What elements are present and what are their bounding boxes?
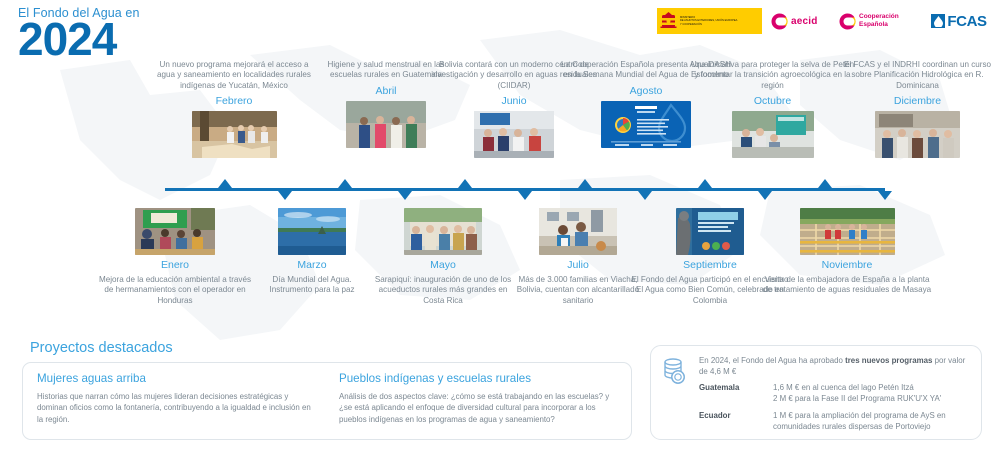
- project-card-pueblos-indigenas[interactable]: Pueblos indígenas y escuelas rurales Aná…: [339, 372, 617, 430]
- event-photo-escuela-rural-guatemala[interactable]: [346, 101, 426, 148]
- ministerio-line3: Y COOPERACIÓN: [680, 23, 737, 26]
- funding-country: Guatemala: [699, 382, 773, 405]
- coins-stack-icon: [661, 355, 691, 431]
- timeline-marker-junio: [518, 191, 532, 200]
- timeline-marker-julio: [578, 179, 592, 188]
- timeline-event-febrero[interactable]: Un nuevo programa mejorará el acceso a a…: [150, 60, 318, 158]
- timeline-marker-febrero: [278, 191, 292, 200]
- aecid-logo: aecid: [768, 8, 830, 34]
- timeline-event-noviembre[interactable]: Noviembre Visita de la embajadora de Esp…: [762, 208, 932, 296]
- funding-row-guatemala: Guatemala 1,6 M € en al cuenca del lago …: [699, 382, 971, 405]
- section-title-proyectos-destacados: Proyectos destacados: [30, 340, 173, 356]
- timeline-event-mayo[interactable]: Mayo Sarapiquí: inauguración de uno de l…: [368, 208, 518, 306]
- event-photo-comunidad-rural-yucatan[interactable]: [192, 111, 277, 158]
- event-month: Octubre: [690, 95, 855, 107]
- event-photo-curso-planificacion-hidrologica[interactable]: [875, 111, 960, 158]
- project-card-title: Mujeres aguas arriba: [37, 372, 315, 385]
- event-photo-cartel-agua-bien-comun[interactable]: [676, 208, 744, 255]
- project-card-mujeres-aguas-arriba[interactable]: Mujeres aguas arriba Historias que narra…: [37, 372, 315, 430]
- funding-values: 1 M € para la ampliación del programa de…: [773, 410, 971, 433]
- timeline-marker-abril: [398, 191, 412, 200]
- cooperacion-line1: Cooperación: [859, 13, 899, 21]
- funding-value-line: 1,6 M € en al cuenca del lago Petén Itzá: [773, 382, 971, 393]
- funding-country: Ecuador: [699, 410, 773, 433]
- event-month: Enero: [95, 259, 255, 271]
- timeline-marker-mayo: [458, 179, 472, 188]
- funding-value-line: 2 M € para la Fase II del Programa RUK'U…: [773, 393, 971, 404]
- event-description: Día Mundial del Agua. Instrumento para l…: [252, 275, 372, 296]
- aecid-c-mark-icon: [771, 13, 788, 30]
- project-card-body: Análisis de dos aspectos clave: ¿cómo se…: [339, 391, 617, 425]
- logo-strip: MINISTERIO DE ASUNTOS EXTERIORES, UNIÓN …: [657, 8, 992, 34]
- event-month: Mayo: [368, 259, 518, 271]
- timeline-marker-octubre: [758, 191, 772, 200]
- timeline-marker-septiembre: [698, 179, 712, 188]
- funding-values: 1,6 M € en al cuenca del lago Petén Itzá…: [773, 382, 971, 405]
- event-description: Mejora de la educación ambiental a travé…: [95, 275, 255, 306]
- event-description: Una iniciativa para proteger la selva de…: [690, 60, 855, 91]
- timeline-marker-enero: [218, 179, 232, 188]
- event-description: Más de 3.000 familias en Viacha, Bolivia…: [508, 275, 648, 306]
- funding-summary-box: En 2024, el Fondo del Agua ha aprobado t…: [650, 345, 982, 440]
- event-month: Julio: [508, 259, 648, 271]
- funding-lead-text: En 2024, el Fondo del Agua ha aprobado t…: [699, 355, 971, 377]
- timeline-axis: [165, 188, 885, 191]
- aecid-wordmark: aecid: [791, 16, 818, 27]
- event-description: Visita de la embajadora de España a la p…: [762, 275, 932, 296]
- timeline-event-diciembre[interactable]: El FCAS y el INDRHI coordinan un curso s…: [840, 60, 995, 158]
- funding-lead-bold: tres nuevos programas: [845, 356, 932, 365]
- event-description: El FCAS y el INDRHI coordinan un curso s…: [840, 60, 995, 91]
- timeline-event-julio[interactable]: Julio Más de 3.000 familias en Viacha, B…: [508, 208, 648, 306]
- event-photo-familias-viacha-bolivia[interactable]: [539, 208, 617, 255]
- funding-row-ecuador: Ecuador 1 M € para la ampliación del pro…: [699, 410, 971, 433]
- event-photo-cartel-aquadash-estocolmo[interactable]: [601, 101, 691, 148]
- event-photo-evento-peten-guatemala[interactable]: [732, 111, 814, 158]
- spain-coat-of-arms-icon: [660, 11, 677, 31]
- event-month: Diciembre: [840, 95, 995, 107]
- projects-card-group: Mujeres aguas arriba Historias que narra…: [22, 362, 632, 440]
- event-month: Marzo: [252, 259, 372, 271]
- timeline-marker-marzo: [338, 179, 352, 188]
- event-description: Un nuevo programa mejorará el acceso a a…: [150, 60, 318, 91]
- timeline-marker-noviembre: [818, 179, 832, 188]
- project-card-title: Pueblos indígenas y escuelas rurales: [339, 372, 617, 385]
- timeline-marker-agosto: [638, 191, 652, 200]
- event-month: Noviembre: [762, 259, 932, 271]
- cooperacion-espanola-logo: Cooperación Española: [836, 8, 920, 34]
- timeline-event-enero[interactable]: Enero Mejora de la educación ambiental a…: [95, 208, 255, 306]
- timeline-event-marzo[interactable]: Marzo Día Mundial del Agua. Instrumento …: [252, 208, 372, 296]
- event-photo-acto-ciidar-bolivia[interactable]: [474, 111, 554, 158]
- cooperacion-line2: Española: [859, 21, 899, 29]
- page-title: El Fondo del Agua en 2024: [18, 6, 140, 60]
- event-photo-inauguracion-acueducto-costa-rica[interactable]: [404, 208, 482, 255]
- funding-value-line: 1 M € para la ampliación del programa de…: [773, 410, 971, 433]
- project-card-body: Historias que narran cómo las mujeres li…: [37, 391, 315, 425]
- fcas-logo: FCAS: [926, 8, 992, 34]
- fcas-wordmark: FCAS: [947, 13, 986, 30]
- funding-lead-pre: En 2024, el Fondo del Agua ha aprobado: [699, 356, 845, 365]
- gobierno-espana-logo: MINISTERIO DE ASUNTOS EXTERIORES, UNIÓN …: [657, 8, 762, 34]
- event-description: Sarapiquí: inauguración de uno de los ac…: [368, 275, 518, 306]
- event-month: Febrero: [150, 95, 318, 107]
- fcas-drop-icon: [931, 14, 945, 28]
- timeline-marker-diciembre: [878, 191, 892, 200]
- cooperacion-c-mark-icon: [839, 13, 856, 30]
- timeline-event-octubre[interactable]: Una iniciativa para proteger la selva de…: [690, 60, 855, 158]
- title-year: 2024: [18, 18, 140, 60]
- event-photo-planta-tratamiento-masaya[interactable]: [800, 208, 895, 255]
- event-photo-taller-educacion-ambiental-honduras[interactable]: [135, 208, 215, 255]
- event-photo-paisaje-lago-agua[interactable]: [278, 208, 346, 255]
